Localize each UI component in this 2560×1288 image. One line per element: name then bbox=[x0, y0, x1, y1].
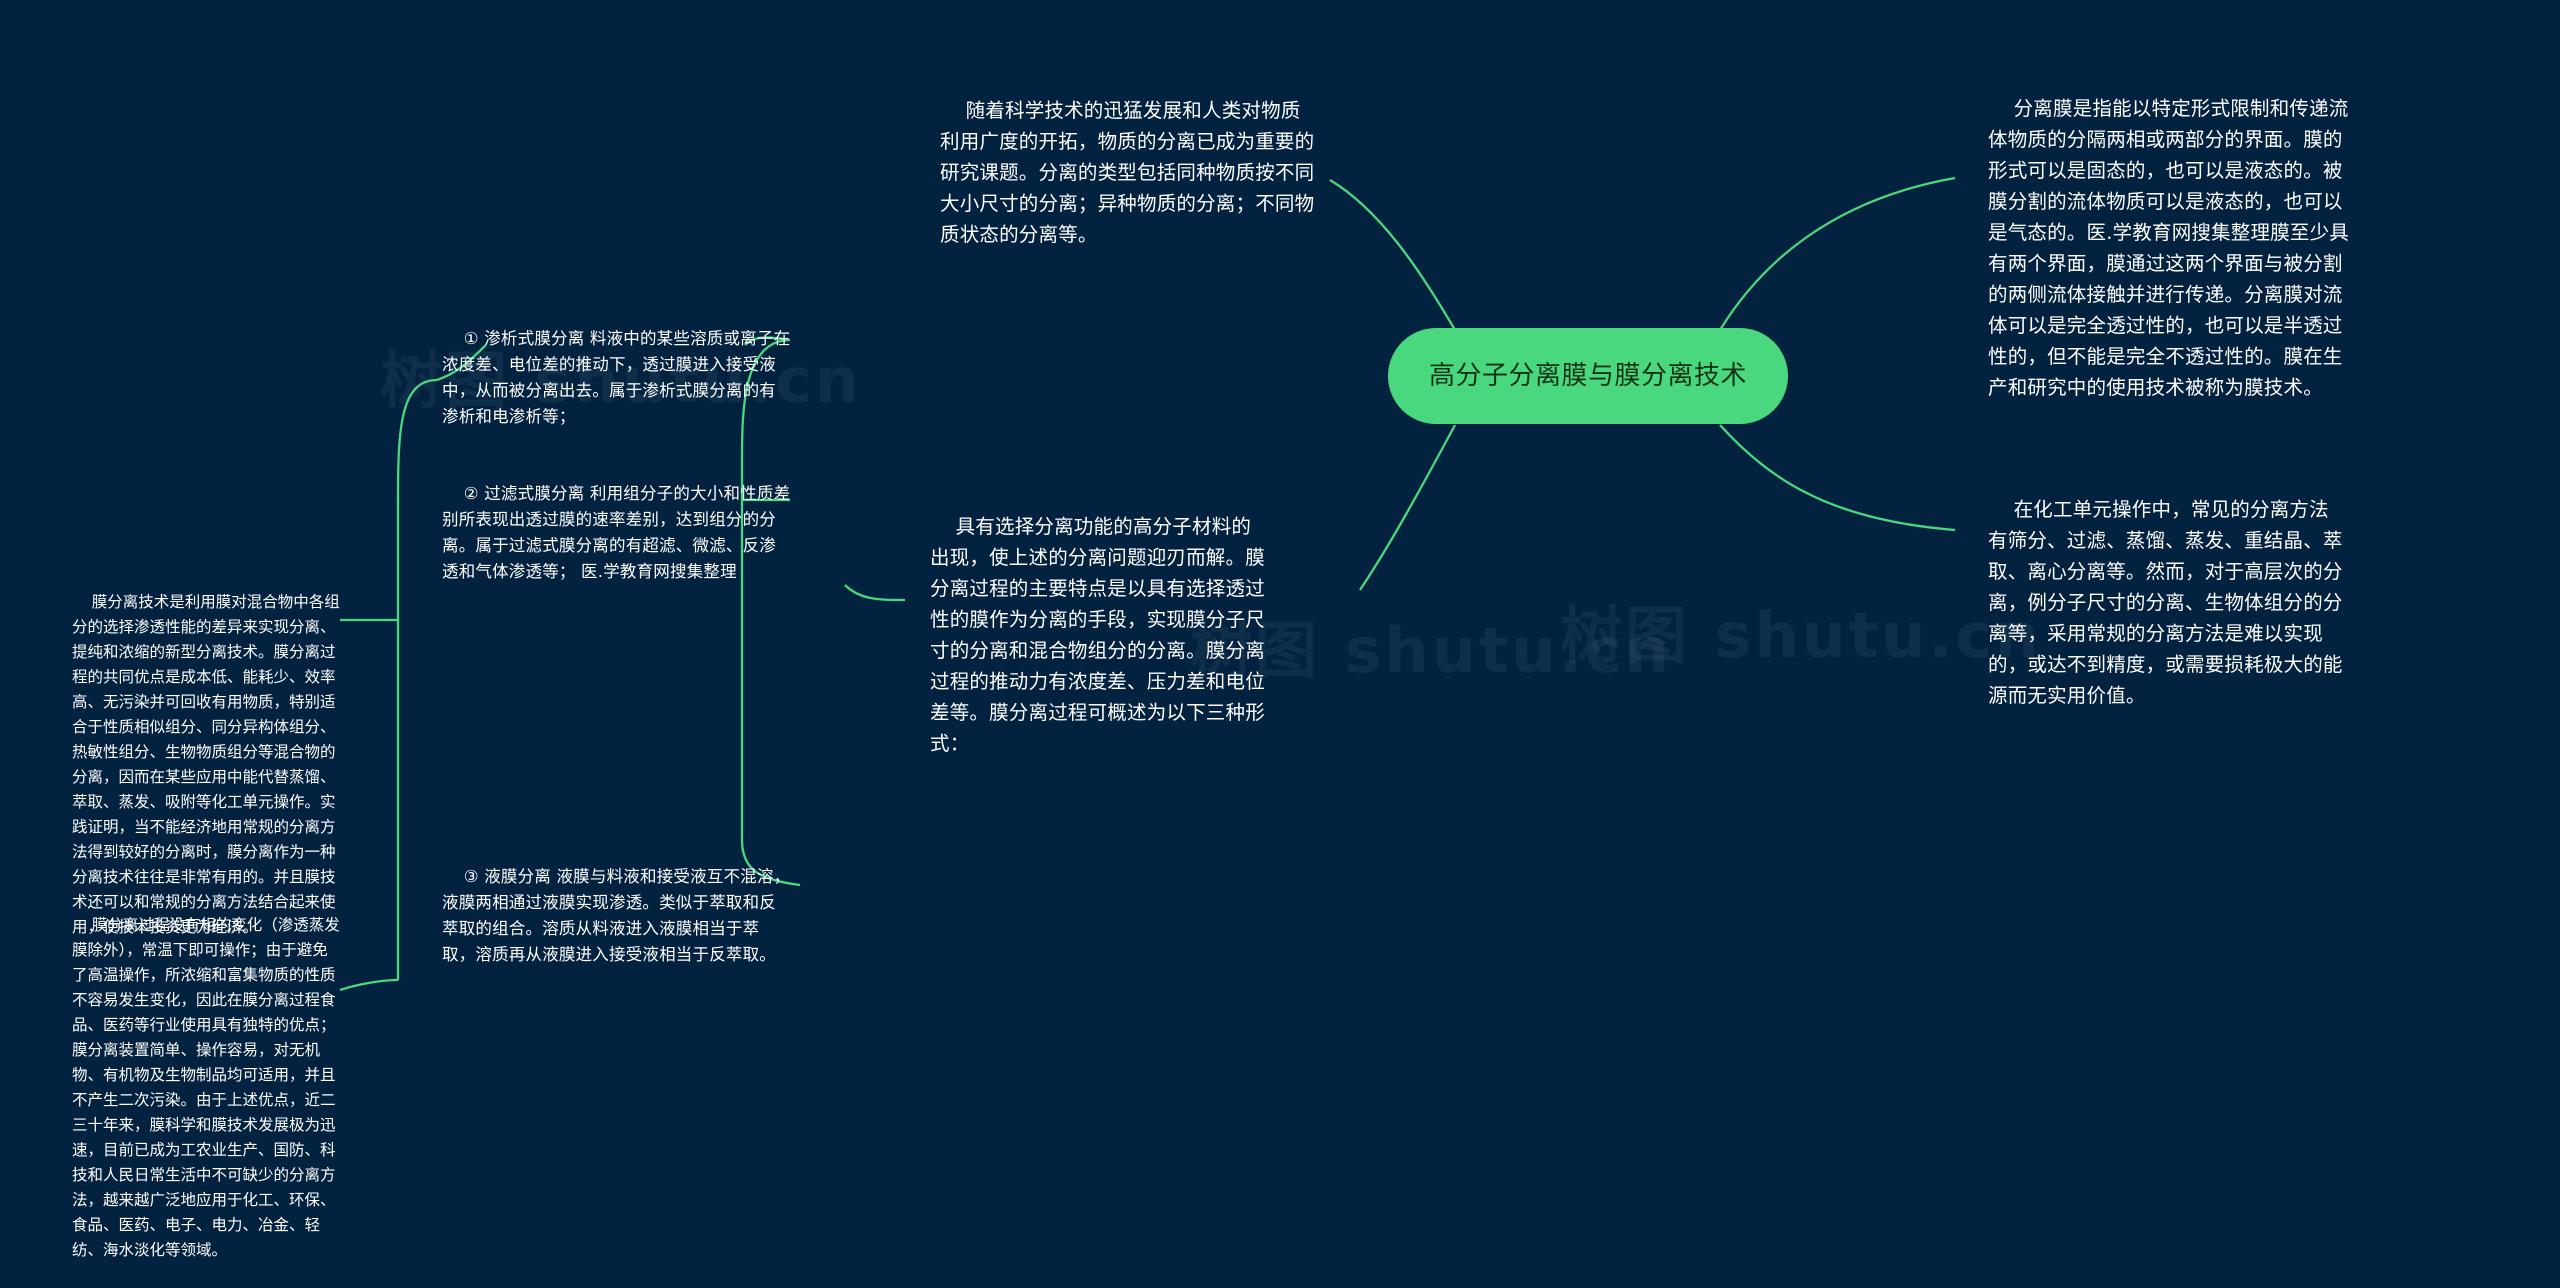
node-form-1[interactable]: ① 渗析式膜分离 料液中的某些溶质或离子在浓度差、电位差的推动下，透过膜进入接受… bbox=[442, 300, 792, 456]
root-node[interactable]: 高分子分离膜与膜分离技术 bbox=[1388, 328, 1788, 424]
connector-principle-spine bbox=[845, 585, 905, 600]
mindmap-canvas: 树图 shutu.cn 树图 shutu.cn 树图 shutu.cn bbox=[0, 0, 2560, 1181]
node-form-3-text: ③ 液膜分离 液膜与料液和接受液互不混溶，液膜两相通过液膜实现渗透。类似于萃取和… bbox=[442, 867, 790, 964]
node-phase-change-text: 膜分离过程没有相的变化（渗透蒸发膜除外），常温下即可操作；由于避免了高温操作，所… bbox=[72, 916, 340, 1259]
connector-unit-ops bbox=[1720, 425, 1955, 530]
node-phase-change[interactable]: 膜分离过程没有相的变化（渗透蒸发膜除外），常温下即可操作；由于避免了高温操作，所… bbox=[72, 888, 342, 1288]
watermark: 树图 shutu.cn bbox=[1560, 585, 2042, 675]
connector-definition bbox=[1720, 178, 1955, 330]
node-unit-ops[interactable]: 在化工单元操作中，常见的分离方法有筛分、过滤、蒸馏、蒸发、重结晶、萃取、离心分离… bbox=[1988, 463, 2348, 742]
node-principle-text: 具有选择分离功能的高分子材料的出现，使上述的分离问题迎刃而解。膜分离过程的主要特… bbox=[930, 515, 1265, 755]
connector-principle bbox=[1360, 425, 1455, 590]
connector-left-spine bbox=[398, 380, 437, 980]
root-node-label: 高分子分离膜与膜分离技术 bbox=[1429, 357, 1747, 395]
node-unit-ops-text: 在化工单元操作中，常见的分离方法有筛分、过滤、蒸馏、蒸发、重结晶、萃取、离心分离… bbox=[1988, 498, 2343, 707]
node-form-1-text: ① 渗析式膜分离 料液中的某些溶质或离子在浓度差、电位差的推动下，透过膜进入接受… bbox=[442, 329, 790, 426]
node-tech-advantages-text: 膜分离技术是利用膜对混合物中各组分的选择渗透性能的差异来实现分离、提纯和浓缩的新… bbox=[72, 593, 340, 936]
node-definition[interactable]: 分离膜是指能以特定形式限制和传递流体物质的分隔两相或两部分的界面。膜的形式可以是… bbox=[1988, 62, 2350, 434]
node-form-2[interactable]: ② 过滤式膜分离 利用组分子的大小和性质差别所表现出透过膜的速率差别，达到组分的… bbox=[442, 455, 792, 611]
node-form-3[interactable]: ③ 液膜分离 液膜与料液和接受液互不混溶，液膜两相通过液膜实现渗透。类似于萃取和… bbox=[442, 838, 792, 994]
node-definition-text: 分离膜是指能以特定形式限制和传递流体物质的分隔两相或两部分的界面。膜的形式可以是… bbox=[1988, 97, 2349, 399]
node-intro-top[interactable]: 随着科学技术的迅猛发展和人类对物质利用广度的开拓，物质的分离已成为重要的研究课题… bbox=[940, 64, 1320, 281]
connector-phase-change bbox=[340, 980, 398, 990]
node-principle[interactable]: 具有选择分离功能的高分子材料的出现，使上述的分离问题迎刃而解。膜分离过程的主要特… bbox=[930, 480, 1270, 790]
node-form-2-text: ② 过滤式膜分离 利用组分子的大小和性质差别所表现出透过膜的速率差别，达到组分的… bbox=[442, 484, 790, 581]
node-intro-top-text: 随着科学技术的迅猛发展和人类对物质利用广度的开拓，物质的分离已成为重要的研究课题… bbox=[940, 99, 1314, 246]
connector-intro-top bbox=[1330, 180, 1455, 330]
